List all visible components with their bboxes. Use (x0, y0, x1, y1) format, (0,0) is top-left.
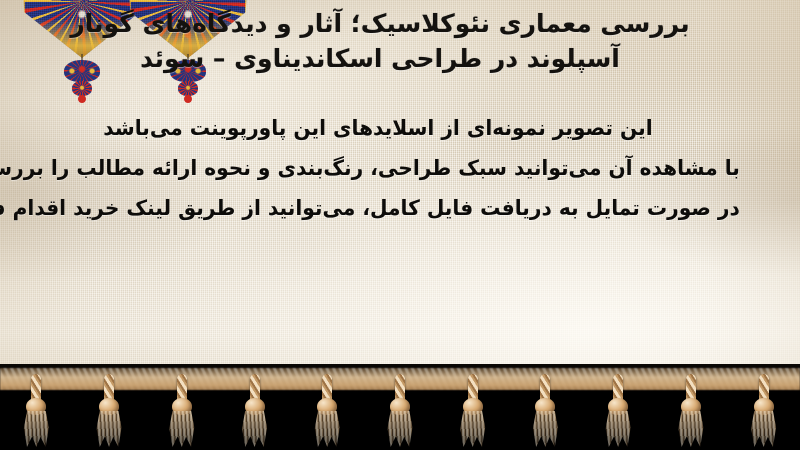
body-line-3: در صورت تمایل به دریافت فایل کامل، می‌تو… (16, 188, 784, 228)
medallion-pendant-small (178, 81, 198, 96)
medallion-pendant-dot (78, 95, 86, 103)
fringe-tassel (96, 374, 122, 448)
tassel-skirt (96, 411, 122, 447)
title-line-1: بررسی معماری نئوکلاسیک؛ آثار و دیدگاه‌ها… (0, 6, 800, 41)
tassel-skirt (169, 411, 195, 447)
tassel-skirt (387, 411, 413, 447)
body-line-2: با مشاهده آن می‌توانید سبک طراحی، رنگ‌بن… (16, 148, 784, 188)
medallion-pendant-small (72, 81, 92, 96)
tassel-skirt (605, 411, 631, 447)
fringe-tassel (605, 374, 631, 448)
tassel-skirt (532, 411, 558, 447)
title-line-2: آسپلوند در طراحی اسکاندیناوی – سوئد (0, 41, 800, 76)
fringe-tassel (23, 374, 49, 448)
fringe-tassel (532, 374, 558, 448)
slide-canvas: بررسی معماری نئوکلاسیک؛ آثار و دیدگاه‌ها… (0, 0, 800, 450)
fringe-tassel (314, 374, 340, 448)
slide-title: بررسی معماری نئوکلاسیک؛ آثار و دیدگاه‌ها… (0, 6, 800, 76)
tassel-skirt (678, 411, 704, 447)
tassel-skirt (314, 411, 340, 447)
tassel-skirt (751, 411, 777, 447)
tassel-skirt (23, 411, 49, 447)
fringe-tassel (751, 374, 777, 448)
fringe-tassel (678, 374, 704, 448)
tassel-skirt (460, 411, 486, 447)
slide-body: این تصویر نمونه‌ای از اسلایدهای این پاور… (0, 108, 800, 228)
medallion-pendant-dot (184, 95, 192, 103)
fringe-tassel (387, 374, 413, 448)
fringe-tassel (169, 374, 195, 448)
fringe-tassel (242, 374, 268, 448)
body-line-1: این تصویر نمونه‌ای از اسلایدهای این پاور… (16, 108, 784, 148)
fringe-tassel (460, 374, 486, 448)
tassel-skirt (242, 411, 268, 447)
